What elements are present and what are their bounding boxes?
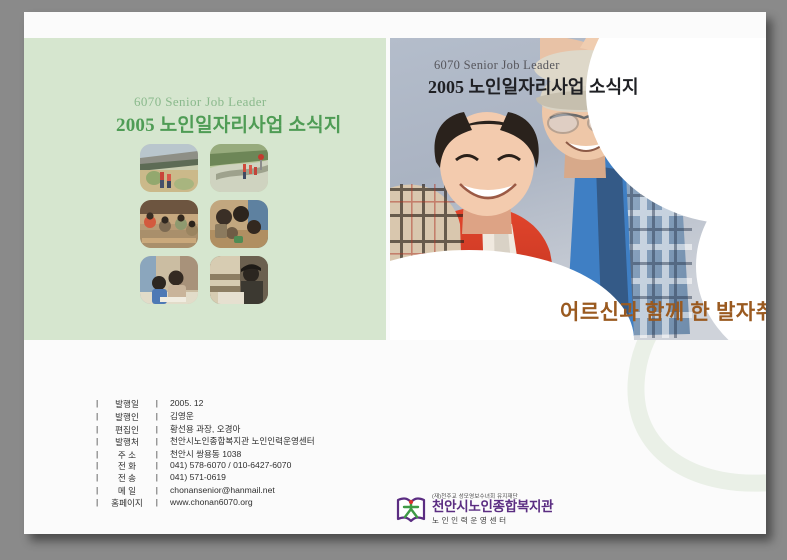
colophon-label: |홈페이지| xyxy=(96,497,158,509)
colophon-value: 041) 578-6070 / 010-6427-6070 xyxy=(170,460,291,470)
colophon-value[interactable]: www.chonan6070.org xyxy=(170,497,253,507)
photo-thumbnail xyxy=(140,256,198,304)
back-cover-title: 2005 노인일자리사업 소식지 xyxy=(116,110,342,137)
open-book-with-person-icon xyxy=(396,495,426,523)
photo-thumbnail xyxy=(210,256,268,304)
brochure-page-sheet: 6070 Senior Job Leader 2005 노인일자리사업 소식지 xyxy=(24,12,766,534)
colophon-label: |전 송| xyxy=(96,472,158,484)
colophon-label: |발행일| xyxy=(96,398,158,410)
front-cover-title: 2005 노인일자리사업 소식지 xyxy=(428,73,639,99)
colophon-row: |발행일| 2005. 12 xyxy=(96,398,315,410)
colophon-row: |발행처| 천안시노인종합복지관 노인인력운영센터 xyxy=(96,435,315,447)
colophon-value: 041) 571-0619 xyxy=(170,472,226,482)
organization-logo: (재)천주교 성모영보수녀회 유지재단 천안시노인종합복지관 노인인력운영센터 xyxy=(396,492,553,526)
back-cover-eyebrow: 6070 Senior Job Leader xyxy=(134,94,267,110)
colophon-value: 천안시 쌍용동 1038 xyxy=(170,448,241,460)
bottom-colophon-area: |발행일| 2005. 12 |발행인| 김영운 |편집인| 황선용 과장, 오… xyxy=(24,340,766,534)
colophon-list: |발행일| 2005. 12 |발행인| 김영운 |편집인| 황선용 과장, 오… xyxy=(96,398,315,510)
logo-main-name: 천안시노인종합복지관 xyxy=(432,500,553,515)
front-cover-panel: 6070 Senior Job Leader 2005 노인일자리사업 소식지 … xyxy=(390,38,766,340)
colophon-row: |전 화| 041) 578-6070 / 010-6427-6070 xyxy=(96,460,315,472)
colophon-label: |메 일| xyxy=(96,485,158,497)
colophon-value: 2005. 12 xyxy=(170,398,203,408)
colophon-value: 김영운 xyxy=(170,410,194,422)
colophon-row: |전 송| 041) 571-0619 xyxy=(96,472,315,484)
back-cover-panel: 6070 Senior Job Leader 2005 노인일자리사업 소식지 xyxy=(24,38,386,340)
colophon-label: |편집인| xyxy=(96,424,158,436)
colophon-label: |전 화| xyxy=(96,460,158,472)
photo-thumbnail xyxy=(140,144,198,192)
front-cover-tagline: 어르신과 함께 한 발자취 xyxy=(560,296,766,326)
photo-thumbnail xyxy=(140,200,198,248)
colophon-label: |발행인| xyxy=(96,411,158,423)
colophon-row: |홈페이지| www.chonan6070.org xyxy=(96,497,315,509)
colophon-row: |발행인| 김영운 xyxy=(96,410,315,422)
colophon-value: 천안시노인종합복지관 노인인력운영센터 xyxy=(170,435,315,447)
colophon-label: |발행처| xyxy=(96,436,158,448)
colophon-row: |주 소| 천안시 쌍용동 1038 xyxy=(96,448,315,460)
colophon-label: |주 소| xyxy=(96,449,158,461)
photo-thumbnail xyxy=(210,144,268,192)
colophon-value: 황선용 과장, 오경아 xyxy=(170,423,240,435)
photo-thumbnail xyxy=(210,200,268,248)
logo-sub-name: 노인인력운영센터 xyxy=(432,515,553,526)
colophon-value[interactable]: chonansenior@hanmail.net xyxy=(170,485,275,495)
back-cover-photo-grid xyxy=(140,144,268,304)
logo-text-block: (재)천주교 성모영보수녀회 유지재단 천안시노인종합복지관 노인인력운영센터 xyxy=(432,492,553,526)
colophon-row: |메 일| chonansenior@hanmail.net xyxy=(96,485,315,497)
front-cover-eyebrow: 6070 Senior Job Leader xyxy=(434,58,560,73)
colophon-row: |편집인| 황선용 과장, 오경아 xyxy=(96,423,315,435)
